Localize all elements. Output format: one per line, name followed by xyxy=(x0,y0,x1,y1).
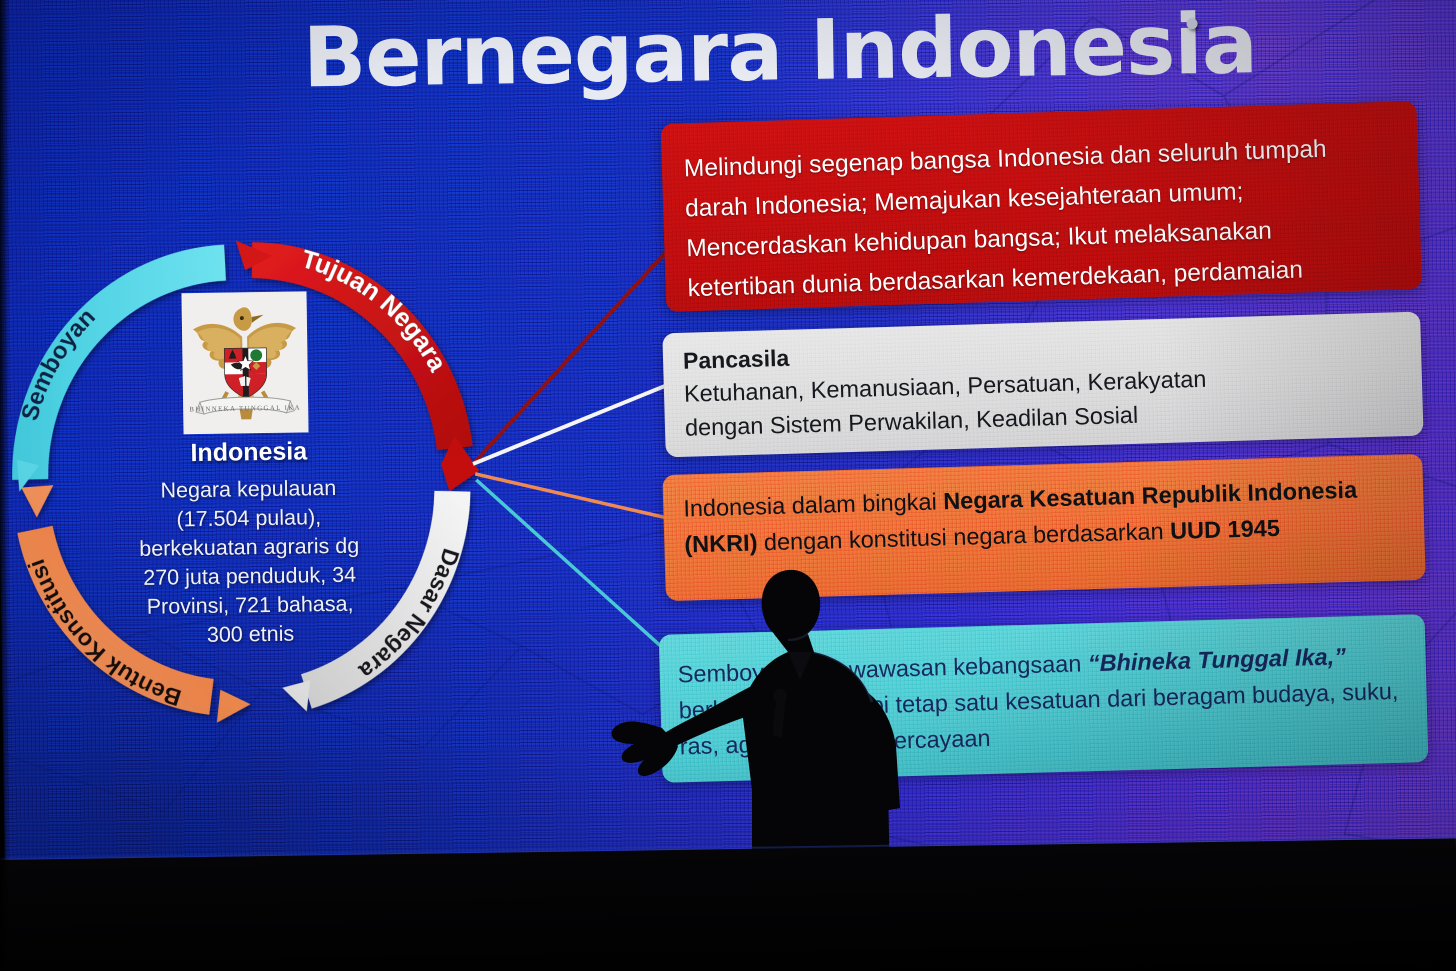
bentuk-seg-1: Indonesia dalam bingkai xyxy=(683,488,944,521)
wheel-label-tujuan-negara: Tujuan Negara xyxy=(298,243,452,379)
bentuk-seg-4: UUD 1945 xyxy=(1170,515,1280,544)
center-desc-line-4: 270 juta penduduk, 34 xyxy=(88,560,410,594)
center-desc-line-5: Provinsi, 721 bahasa, xyxy=(89,589,411,623)
wheel-center-country: Indonesia xyxy=(94,436,404,470)
slide-title: Bernegara Indonesia xyxy=(302,0,1203,110)
svg-text:Tujuan Negara: Tujuan Negara xyxy=(298,243,452,379)
garuda-pancasila-emblem: BHINNEKA TUNGGAL IKA xyxy=(181,291,308,434)
left-shadow-edge xyxy=(0,0,10,971)
semboyan-seg-2: “Bhineka Tunggal Ika,” xyxy=(1088,643,1347,676)
dasar-negara-callout[interactable]: Pancasila Ketuhanan, Kemanusiaan, Persat… xyxy=(662,312,1423,458)
title-trailing-dot xyxy=(1186,18,1197,29)
center-desc-line-6: 300 etnis xyxy=(89,618,411,652)
tujuan-negara-callout[interactable]: Melindungi segenap bangsa Indonesia dan … xyxy=(661,101,1422,312)
photo-scene: Bernegara Indonesia xyxy=(0,0,1456,971)
wheel-center-description: Negara kepulauan (17.504 pulau), berkeku… xyxy=(87,473,412,652)
center-desc-line-1: Negara kepulauan xyxy=(87,473,409,507)
stage-floor xyxy=(0,838,1456,971)
